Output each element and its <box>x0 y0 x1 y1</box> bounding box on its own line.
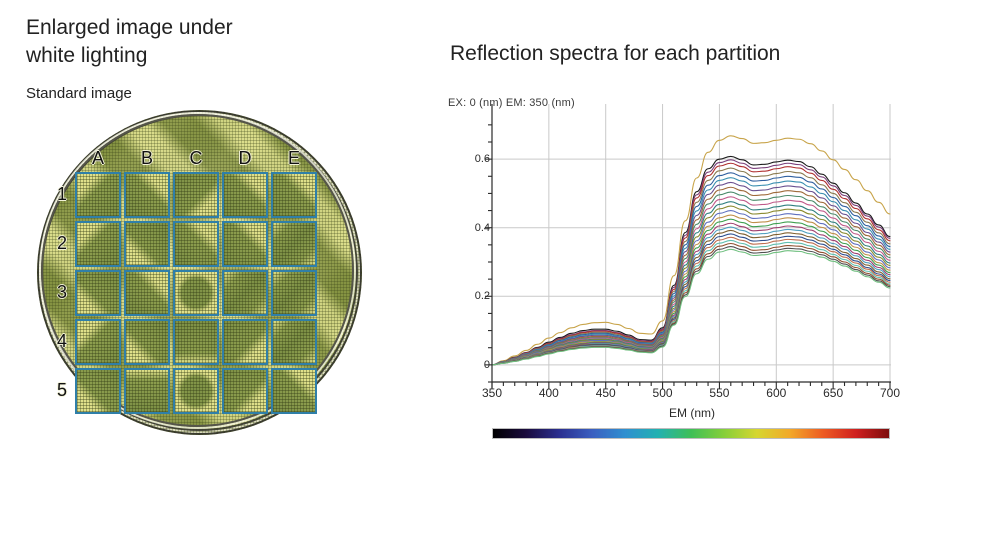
wafer-row-label-3: 3 <box>53 282 71 303</box>
wafer-partition-E5[interactable] <box>271 368 317 414</box>
wafer-partition-B4[interactable] <box>124 319 170 365</box>
partition-grain-texture <box>273 370 315 412</box>
partition-grain-texture <box>77 370 119 412</box>
wafer-partition-B1[interactable] <box>124 172 170 218</box>
wafer-partition-B5[interactable] <box>124 368 170 414</box>
white-light-image-panel: Enlarged image under white lighting Stan… <box>0 0 430 538</box>
partition-grain-texture <box>77 321 119 363</box>
partition-grain-texture <box>126 223 168 265</box>
partition-grain-texture <box>224 321 266 363</box>
spectra-plot: 00.20.40.6 350400450500550600650700 EM (… <box>430 0 1000 538</box>
x-tick-label-3: 500 <box>653 386 673 400</box>
wafer-column-label-E: E <box>283 148 305 169</box>
y-axis-tick-labels: 00.20.40.6 <box>452 110 490 370</box>
panel-heading: Enlarged image under white lighting <box>26 14 356 70</box>
wafer-row-label-4: 4 <box>53 331 71 352</box>
wafer-partition-A2[interactable] <box>75 221 121 267</box>
wafer-partition-C5[interactable] <box>173 368 219 414</box>
x-tick-label-2: 450 <box>596 386 616 400</box>
wafer-partition-A5[interactable] <box>75 368 121 414</box>
x-tick-label-4: 550 <box>709 386 729 400</box>
partition-grain-texture <box>273 272 315 314</box>
partition-grain-texture <box>126 370 168 412</box>
spectrum-colorbar <box>492 428 890 439</box>
spectrum-colorbar-gradient <box>493 429 889 438</box>
wafer-partition-D3[interactable] <box>222 270 268 316</box>
partition-grain-texture <box>224 272 266 314</box>
wafer-partition-E1[interactable] <box>271 172 317 218</box>
y-tick-label-2: 0.4 <box>452 222 490 234</box>
wafer-partition-A3[interactable] <box>75 270 121 316</box>
partition-grain-texture <box>224 370 266 412</box>
wafer-partition-D1[interactable] <box>222 172 268 218</box>
wafer-partition-A1[interactable] <box>75 172 121 218</box>
wafer-partition-E2[interactable] <box>271 221 317 267</box>
wafer-partition-B2[interactable] <box>124 221 170 267</box>
wafer-partition-B3[interactable] <box>124 270 170 316</box>
x-tick-label-0: 350 <box>482 386 502 400</box>
partition-grain-texture <box>175 272 217 314</box>
spectra-plot-svg <box>430 0 1000 538</box>
y-tick-label-0: 0 <box>452 359 490 371</box>
partition-grain-texture <box>175 370 217 412</box>
x-tick-label-6: 650 <box>823 386 843 400</box>
partition-grain-texture <box>273 223 315 265</box>
wafer-partition-C3[interactable] <box>173 270 219 316</box>
partition-grain-texture <box>77 174 119 216</box>
wafer-partition-C1[interactable] <box>173 172 219 218</box>
x-tick-label-7: 700 <box>880 386 900 400</box>
wafer-partition-E3[interactable] <box>271 270 317 316</box>
y-tick-label-1: 0.2 <box>452 290 490 302</box>
partition-grain-texture <box>126 174 168 216</box>
wafer-partition-D5[interactable] <box>222 368 268 414</box>
x-tick-label-5: 600 <box>766 386 786 400</box>
wafer-column-label-C: C <box>185 148 207 169</box>
spectra-series-group <box>492 136 890 365</box>
wafer-partition-C4[interactable] <box>173 319 219 365</box>
wafer-row-label-5: 5 <box>53 380 71 401</box>
partition-grain-texture <box>224 174 266 216</box>
wafer-row-label-2: 2 <box>53 233 71 254</box>
panel-subheading: Standard image <box>26 85 132 102</box>
partition-grain-texture <box>126 321 168 363</box>
wafer-partition-D4[interactable] <box>222 319 268 365</box>
partition-grain-texture <box>77 223 119 265</box>
wafer-partition-A4[interactable] <box>75 319 121 365</box>
partition-grain-texture <box>126 272 168 314</box>
wafer-column-label-B: B <box>136 148 158 169</box>
wafer-partition-C2[interactable] <box>173 221 219 267</box>
y-tick-label-3: 0.6 <box>452 153 490 165</box>
x-tick-label-1: 400 <box>539 386 559 400</box>
x-axis-title: EM (nm) <box>492 406 892 420</box>
partition-grain-texture <box>273 321 315 363</box>
reflection-spectra-panel: Reflection spectra for each partition EX… <box>430 0 1000 538</box>
x-axis-tick-labels: 350400450500550600650700 <box>430 386 1000 406</box>
partition-grain-texture <box>175 223 217 265</box>
partition-grain-texture <box>273 174 315 216</box>
wafer-partition-D2[interactable] <box>222 221 268 267</box>
partition-grain-texture <box>77 272 119 314</box>
wafer-row-label-1: 1 <box>53 184 71 205</box>
wafer-column-label-D: D <box>234 148 256 169</box>
wafer-column-label-A: A <box>87 148 109 169</box>
partition-grain-texture <box>224 223 266 265</box>
wafer-partition-grid <box>75 172 317 414</box>
wafer-figure: ABCDE 12345 <box>37 110 362 435</box>
partition-grain-texture <box>175 321 217 363</box>
wafer-partition-E4[interactable] <box>271 319 317 365</box>
partition-grain-texture <box>175 174 217 216</box>
